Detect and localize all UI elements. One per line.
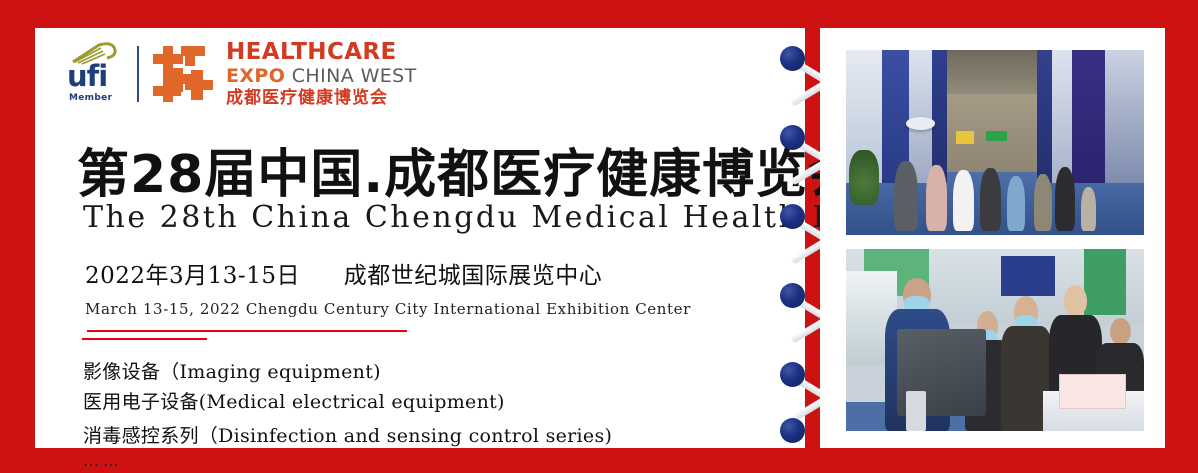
- page-title-chinese: 第28届中国.成都医疗健康博览会: [77, 132, 861, 207]
- expo-line-china-west: EXPO CHINA WEST: [226, 67, 417, 86]
- chain-bead: [780, 204, 805, 229]
- expo-wordmark: HEALTHCARE EXPO CHINA WEST 成都医疗健康博览会: [226, 41, 417, 107]
- event-venue-chinese: 成都世纪城国际展览中心: [344, 263, 603, 289]
- photo-panel: [820, 28, 1165, 448]
- divider-rule-long: [87, 330, 407, 332]
- photo-exhibition-hall: [846, 50, 1144, 235]
- category-item: 医用电子设备(Medical electrical equipment): [83, 387, 505, 414]
- logo-divider: [137, 46, 139, 102]
- expo-word-china-west: CHINA WEST: [292, 65, 417, 87]
- divider-rule-short: [82, 338, 207, 340]
- expo-line-chinese: 成都医疗健康博览会: [226, 90, 417, 107]
- expo-word-expo: EXPO: [226, 65, 285, 87]
- chain-bead: [780, 283, 805, 308]
- event-date-chinese: 2022年3月13-15日: [85, 263, 300, 289]
- ufi-member-label: Member: [69, 93, 112, 103]
- category-item: 消毒感控系列（Disinfection and sensing control …: [83, 421, 612, 448]
- category-item: 影像设备（Imaging equipment): [83, 357, 381, 384]
- chain-bead: [780, 418, 805, 443]
- expo-cross-mark-icon: [151, 44, 217, 104]
- event-date-venue-english: March 13-15, 2022 Chengdu Century City I…: [85, 300, 691, 318]
- chain-bead: [780, 46, 805, 71]
- brand-row: ufi Member HEALTHCARE EXPO CHINA WEST: [65, 38, 417, 110]
- expo-line-healthcare: HEALTHCARE: [226, 41, 417, 64]
- chain-bead: [780, 125, 805, 150]
- category-item-ellipsis: ……: [83, 451, 123, 470]
- poster-root: ufi Member HEALTHCARE EXPO CHINA WEST: [0, 0, 1198, 473]
- ufi-wordmark: ufi: [67, 62, 107, 91]
- left-content-card: ufi Member HEALTHCARE EXPO CHINA WEST: [35, 28, 805, 448]
- chain-bead: [780, 362, 805, 387]
- ufi-logo: ufi Member: [65, 40, 127, 108]
- photo-booth-visitors: [846, 249, 1144, 431]
- event-date-venue-chinese: 2022年3月13-15日 成都世纪城国际展览中心: [85, 256, 602, 290]
